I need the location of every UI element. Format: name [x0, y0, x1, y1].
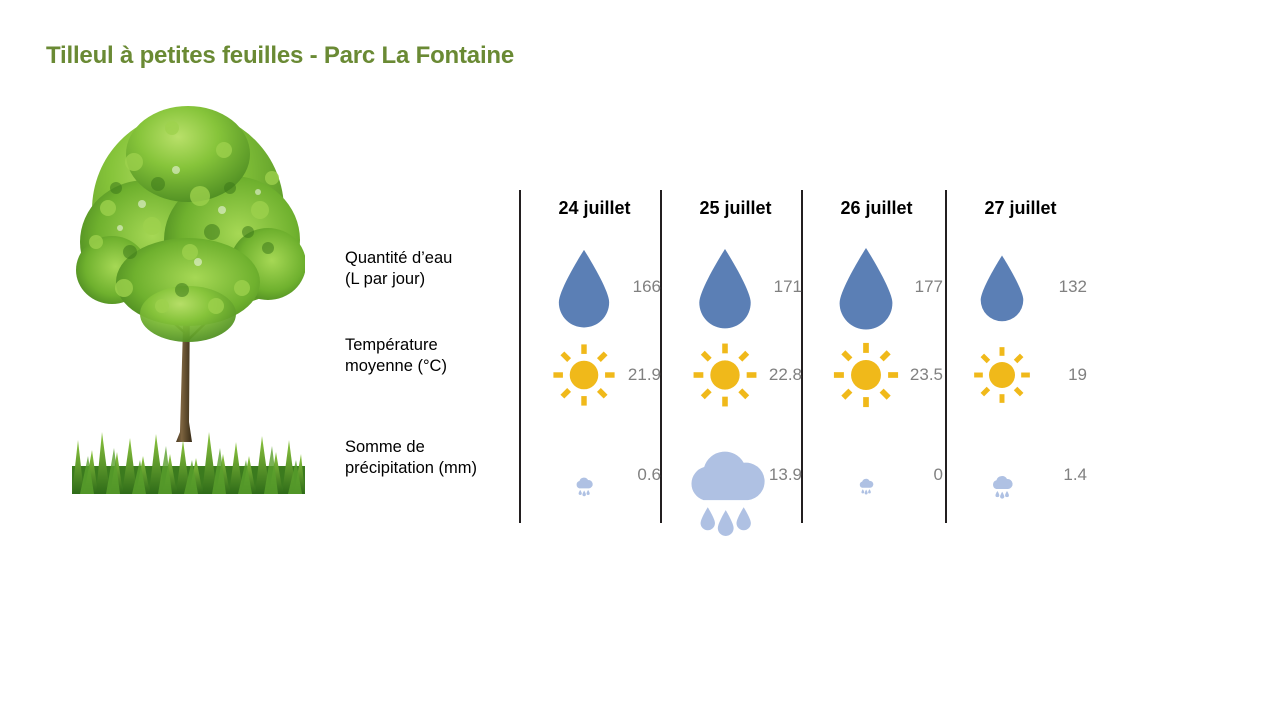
metric-cell: 0.6 [524, 475, 665, 476]
metric-value: 0.6 [637, 465, 661, 485]
row-label-precipitation-line2: précipitation (mm) [345, 458, 530, 479]
metric-cell: 132 [950, 287, 1091, 288]
metric-cell: 19 [950, 375, 1091, 376]
column-header-0: 24 juillet [524, 198, 665, 219]
grass-strip [72, 426, 305, 494]
metric-cell: 23.5 [806, 375, 947, 376]
metric-value: 19 [1068, 365, 1087, 385]
metric-cell: 0 [806, 475, 947, 476]
rain-cloud-icon [858, 476, 874, 494]
metric-value: 132 [1059, 277, 1087, 297]
metric-cell: 21.9 [524, 375, 665, 376]
row-label-precipitation: Somme de précipitation (mm) [345, 437, 530, 479]
column-header-2: 26 juillet [806, 198, 947, 219]
row-label-temperature: Température moyenne (°C) [345, 335, 530, 377]
metric-cell: 22.8 [665, 375, 806, 376]
row-label-water: Quantité d’eau (L par jour) [345, 248, 530, 290]
rain-cloud-icon [682, 438, 768, 532]
rain-cloud-icon [990, 472, 1013, 498]
metric-value: 1.4 [1063, 465, 1087, 485]
metric-value: 171 [774, 277, 802, 297]
metric-value: 23.5 [910, 365, 943, 385]
tree-photo [72, 92, 305, 494]
metric-cell: 171 [665, 287, 806, 288]
row-label-temperature-line2: moyenne (°C) [345, 356, 530, 377]
metric-cell: 1.4 [950, 475, 1091, 476]
weather-metrics-table: Quantité d’eau (L par jour) Température … [330, 185, 1090, 525]
metric-cell: 166 [524, 287, 665, 288]
metric-cell: 177 [806, 287, 947, 288]
column-header-3: 27 juillet [950, 198, 1091, 219]
metric-value: 177 [915, 277, 943, 297]
row-label-water-line2: (L par jour) [345, 269, 530, 290]
page-title: Tilleul à petites feuilles - Parc La Fon… [46, 42, 514, 70]
metric-value: 13.9 [769, 465, 802, 485]
row-label-precipitation-line1: Somme de [345, 437, 530, 458]
metric-value: 166 [633, 277, 661, 297]
column-divider-3 [945, 190, 947, 523]
metric-value: 21.9 [628, 365, 661, 385]
metric-value: 0 [934, 465, 943, 485]
rain-cloud-icon [575, 474, 594, 495]
metric-cell: 13.9 [665, 475, 806, 476]
column-header-1: 25 juillet [665, 198, 806, 219]
row-label-temperature-line1: Température [345, 335, 530, 356]
metric-value: 22.8 [769, 365, 802, 385]
row-label-water-line1: Quantité d’eau [345, 248, 530, 269]
